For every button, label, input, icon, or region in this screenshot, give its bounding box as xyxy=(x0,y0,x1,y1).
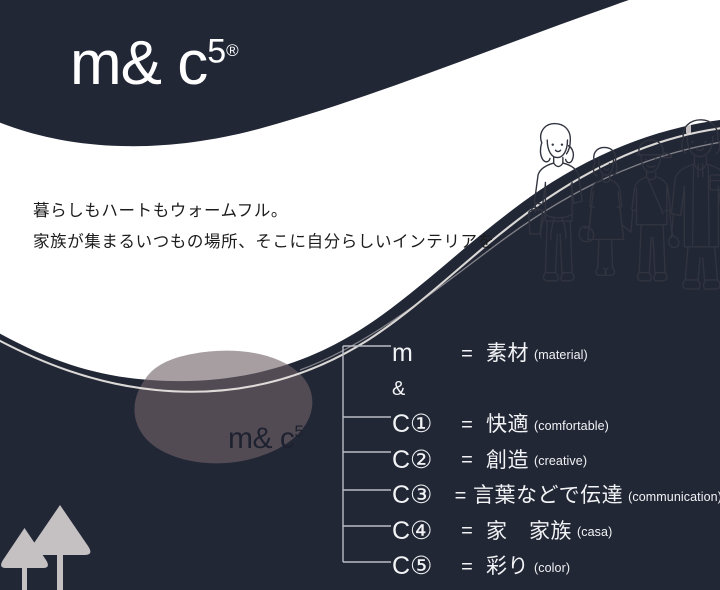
center-logo-superscript: 5 xyxy=(294,422,303,441)
legend-jp: 素材 xyxy=(480,343,529,364)
registered-trademark-icon: ® xyxy=(226,41,238,60)
poster-canvas: m& c5® 暮らしもハートもウォームフル。 家族が集まるいつもの場所、そこに自… xyxy=(0,0,720,590)
legend-en: (comfortable) xyxy=(529,420,609,433)
wordmark-main: m& c xyxy=(70,29,207,98)
legend-key: & xyxy=(392,379,405,399)
legend-equals: = xyxy=(454,450,480,470)
legend-en: (casa) xyxy=(572,526,612,539)
legend-key: C⑤ xyxy=(392,554,454,579)
legend-jp: 家 家族 xyxy=(480,521,572,542)
legend-equals: = xyxy=(454,344,480,364)
legend-row-m: m = 素材 (material) xyxy=(392,336,720,372)
legend-key: C④ xyxy=(392,519,454,544)
legend-jp: 創造 xyxy=(480,450,529,471)
legend-jp: 彩り xyxy=(480,556,529,577)
legend-list: m = 素材 (material) & C① = 快適 (comfortable… xyxy=(392,336,720,585)
legend-key: m xyxy=(392,341,454,366)
legend-key: C① xyxy=(392,412,454,437)
legend-row-ampersand: & xyxy=(392,372,720,408)
page-title: m& c5® xyxy=(70,33,237,95)
legend-en: (material) xyxy=(529,349,588,362)
legend-equals: = xyxy=(454,415,480,435)
legend-en: (communication) xyxy=(623,491,720,504)
tagline-line-2: 家族が集まるいつもの場所、そこに自分らしいインテリアを xyxy=(33,227,495,258)
center-logo-main: m& c xyxy=(228,422,294,455)
legend-row-c1: C① = 快適 (comfortable) xyxy=(392,407,720,443)
legend-jp: 言葉などで伝達 xyxy=(467,485,623,506)
legend-key: C② xyxy=(392,448,454,473)
legend-en: (creative) xyxy=(529,455,587,468)
legend-row-c2: C② = 創造 (creative) xyxy=(392,443,720,479)
legend-equals: = xyxy=(454,486,467,506)
tagline: 暮らしもハートもウォームフル。 家族が集まるいつもの場所、そこに自分らしいインテ… xyxy=(33,196,495,257)
wordmark-superscript: 5 xyxy=(207,32,225,70)
legend-jp: 快適 xyxy=(480,414,529,435)
legend-row-c4: C④ = 家 家族 (casa) xyxy=(392,514,720,550)
legend-key: C③ xyxy=(392,483,454,508)
legend-row-c5: C⑤ = 彩り (color) xyxy=(392,549,720,585)
tagline-line-1: 暮らしもハートもウォームフル。 xyxy=(33,196,495,227)
legend-bracket xyxy=(335,340,393,568)
legend-row-c3: C③ = 言葉などで伝達 (communication) xyxy=(392,478,720,514)
legend-equals: = xyxy=(454,557,480,577)
legend-en: (color) xyxy=(529,562,570,575)
center-logo: m& c5 xyxy=(228,424,303,454)
legend-equals: = xyxy=(454,521,480,541)
